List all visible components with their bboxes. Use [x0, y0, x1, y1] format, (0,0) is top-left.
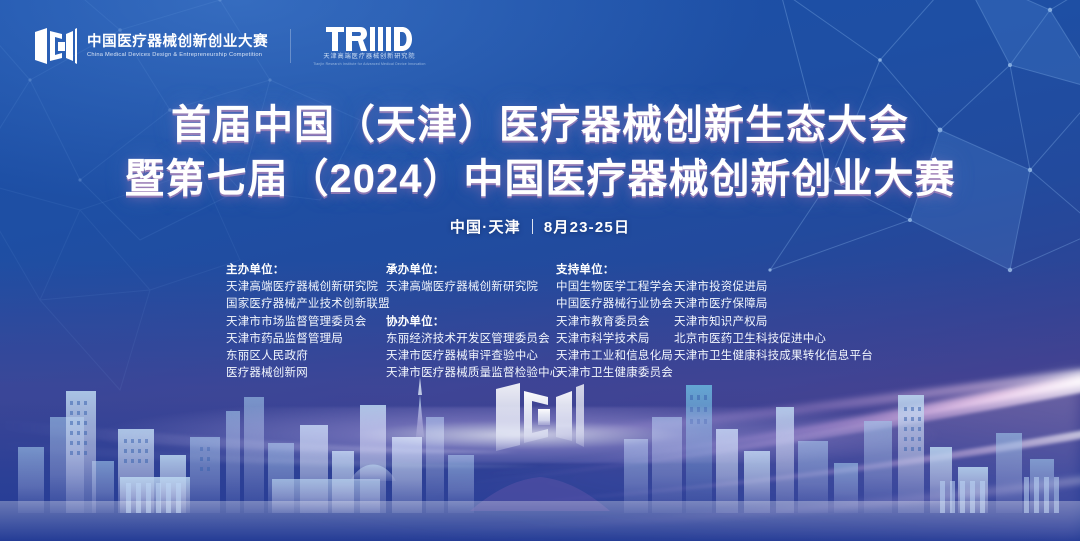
organizer-heading: 主办单位：: [226, 262, 386, 279]
event-meta: 中国·天津 8月23-25日: [0, 216, 1080, 237]
support-item: 中国生物医学工程学会: [556, 279, 674, 296]
undertaker-item: 天津高端医疗器械创新研究院: [386, 279, 556, 296]
institute-logo-name-en: Tianjin Research Institute for Advanced …: [313, 63, 425, 67]
conference-banner: 中国医疗器械创新创业大赛 China Medical Devices Desig…: [0, 0, 1080, 541]
coorganizer-item: 天津市医疗器械质量监督检验中心: [386, 365, 556, 382]
organizer-item: 天津高端医疗器械创新研究院: [226, 279, 386, 296]
support-item: 中国医疗器械行业协会: [556, 296, 674, 313]
main-title-line-1: 首届中国（天津）医疗器械创新生态大会: [0, 98, 1080, 152]
organizer-block: 主办单位： 天津高端医疗器械创新研究院 国家医疗器械产业技术创新联盟 天津市市场…: [226, 262, 884, 382]
organizer-column-support-b: 天津市投资促进局 天津市医疗保障局 天津市知识产权局 北京市医药卫生科技促进中心…: [674, 262, 884, 365]
support-heading: 支持单位：: [556, 262, 674, 279]
event-date: 8月23-25日: [544, 216, 630, 237]
institute-logo-name-cn: 天津高端医疗器械创新研究院: [323, 54, 415, 61]
meta-divider: [532, 219, 533, 234]
support-item: 天津市知识产权局: [674, 314, 884, 331]
organizer-column-support-a: 支持单位： 中国生物医学工程学会 中国医疗器械行业协会 天津市教育委员会 天津市…: [556, 262, 674, 382]
support-item: 天津市工业和信息化局: [556, 348, 674, 365]
organizer-item: 医疗器械创新网: [226, 365, 386, 382]
support-item: 天津市教育委员会: [556, 314, 674, 331]
logo-divider: [290, 29, 291, 63]
triid-logo-mark-icon: [326, 26, 412, 52]
institute-logo[interactable]: 天津高端医疗器械创新研究院 Tianjin Research Institute…: [313, 26, 425, 67]
undertaker-heading: 承办单位：: [386, 262, 556, 279]
coorganizer-item: 天津市医疗器械审评查验中心: [386, 348, 556, 365]
competition-logo[interactable]: 中国医疗器械创新创业大赛 China Medical Devices Desig…: [34, 26, 268, 66]
center-door-emblem-icon: [494, 381, 586, 453]
support-item: 天津市投资促进局: [674, 279, 884, 296]
support-item: 北京市医药卫生科技促进中心: [674, 331, 884, 348]
support-item: 天津市卫生健康科技成果转化信息平台: [674, 348, 884, 365]
event-location: 中国·天津: [450, 216, 521, 237]
competition-logo-mark-icon: [34, 26, 78, 66]
coorganizer-item: 东丽经济技术开发区管理委员会: [386, 331, 556, 348]
organizer-item: 天津市市场监督管理委员会: [226, 314, 386, 331]
header-logo-bar: 中国医疗器械创新创业大赛 China Medical Devices Desig…: [34, 26, 426, 67]
competition-logo-name-cn: 中国医疗器械创新创业大赛: [87, 35, 268, 50]
coorganizer-heading: 协办单位：: [386, 314, 556, 331]
organizer-column-undertaker: 承办单位： 天津高端医疗器械创新研究院 协办单位： 东丽经济技术开发区管理委员会…: [386, 262, 556, 382]
title-block: 首届中国（天津）医疗器械创新生态大会 暨第七届（2024）中国医疗器械创新创业大…: [0, 98, 1080, 237]
organizer-column-host: 主办单位： 天津高端医疗器械创新研究院 国家医疗器械产业技术创新联盟 天津市市场…: [226, 262, 386, 382]
organizer-item: 天津市药品监督管理局: [226, 331, 386, 348]
column-spacer: [674, 262, 884, 279]
main-title-line-2: 暨第七届（2024）中国医疗器械创新创业大赛: [0, 152, 1080, 206]
support-item: 天津市卫生健康委员会: [556, 365, 674, 382]
support-item: 天津市医疗保障局: [674, 296, 884, 313]
organizer-item: 东丽区人民政府: [226, 348, 386, 365]
organizer-item: 国家医疗器械产业技术创新联盟: [226, 296, 386, 313]
column-spacer: [386, 296, 556, 313]
competition-logo-name-en: China Medical Devices Design & Entrepren…: [87, 52, 272, 58]
support-item: 天津市科学技术局: [556, 331, 674, 348]
